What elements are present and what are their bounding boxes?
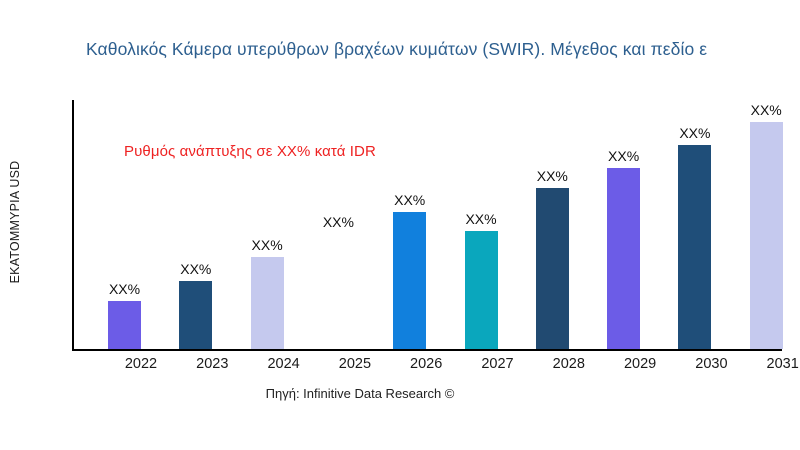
x-axis-tick-label: 2031 — [743, 356, 800, 372]
bar[interactable] — [251, 257, 284, 349]
x-axis-tick-label: 2023 — [172, 356, 252, 372]
bar-group[interactable]: XX% — [251, 257, 284, 349]
bar-value-label: XX% — [323, 214, 354, 230]
bar-group[interactable]: XX% — [607, 168, 640, 349]
bar-group[interactable]: XX% — [750, 122, 783, 349]
bar-value-label: XX% — [465, 211, 496, 227]
x-axis-tick-label: 2028 — [529, 356, 609, 372]
bar-value-label: XX% — [608, 148, 639, 164]
bar-value-label: XX% — [109, 281, 140, 297]
bar[interactable] — [108, 301, 141, 349]
bar-value-label: XX% — [537, 168, 568, 184]
x-axis-tick-label: 2030 — [671, 356, 751, 372]
bar-value-label: XX% — [394, 192, 425, 208]
x-axis-tick-label: 2025 — [315, 356, 395, 372]
x-axis-tick-label: 2026 — [386, 356, 466, 372]
x-axis-tick-label: 2022 — [101, 356, 181, 372]
plot-area: XX%2022XX%2023XX%2024XX%2025XX%2026XX%20… — [0, 0, 800, 450]
bar[interactable] — [465, 231, 498, 349]
bar-group[interactable]: XX% — [108, 301, 141, 349]
bar-group[interactable]: XX% — [179, 281, 212, 349]
bar[interactable] — [393, 212, 426, 349]
bar[interactable] — [607, 168, 640, 349]
growth-rate-annotation: Ρυθμός ανάπτυξης σε XX% κατά IDR — [124, 143, 376, 160]
bar[interactable] — [179, 281, 212, 349]
bar-group[interactable]: XX% — [393, 212, 426, 349]
x-axis-tick-label: 2024 — [244, 356, 324, 372]
bar-group[interactable]: XX% — [536, 188, 569, 349]
bar[interactable] — [678, 145, 711, 349]
bar-group[interactable]: XX% — [322, 234, 355, 349]
bar-value-label: XX% — [751, 102, 782, 118]
bar-group[interactable]: XX% — [678, 145, 711, 349]
bar-value-label: XX% — [252, 237, 283, 253]
bar-group[interactable]: XX% — [465, 231, 498, 349]
bar-value-label: XX% — [679, 125, 710, 141]
x-axis-tick-label: 2027 — [458, 356, 538, 372]
bar[interactable] — [536, 188, 569, 349]
chart-canvas: Καθολικός Κάμερα υπερύθρων βραχέων κυμάτ… — [0, 0, 800, 450]
x-axis-tick-label: 2029 — [600, 356, 680, 372]
bar[interactable] — [322, 234, 355, 349]
bar[interactable] — [750, 122, 783, 349]
bar-value-label: XX% — [180, 261, 211, 277]
source-caption: Πηγή: Infinitive Data Research © — [0, 386, 720, 401]
